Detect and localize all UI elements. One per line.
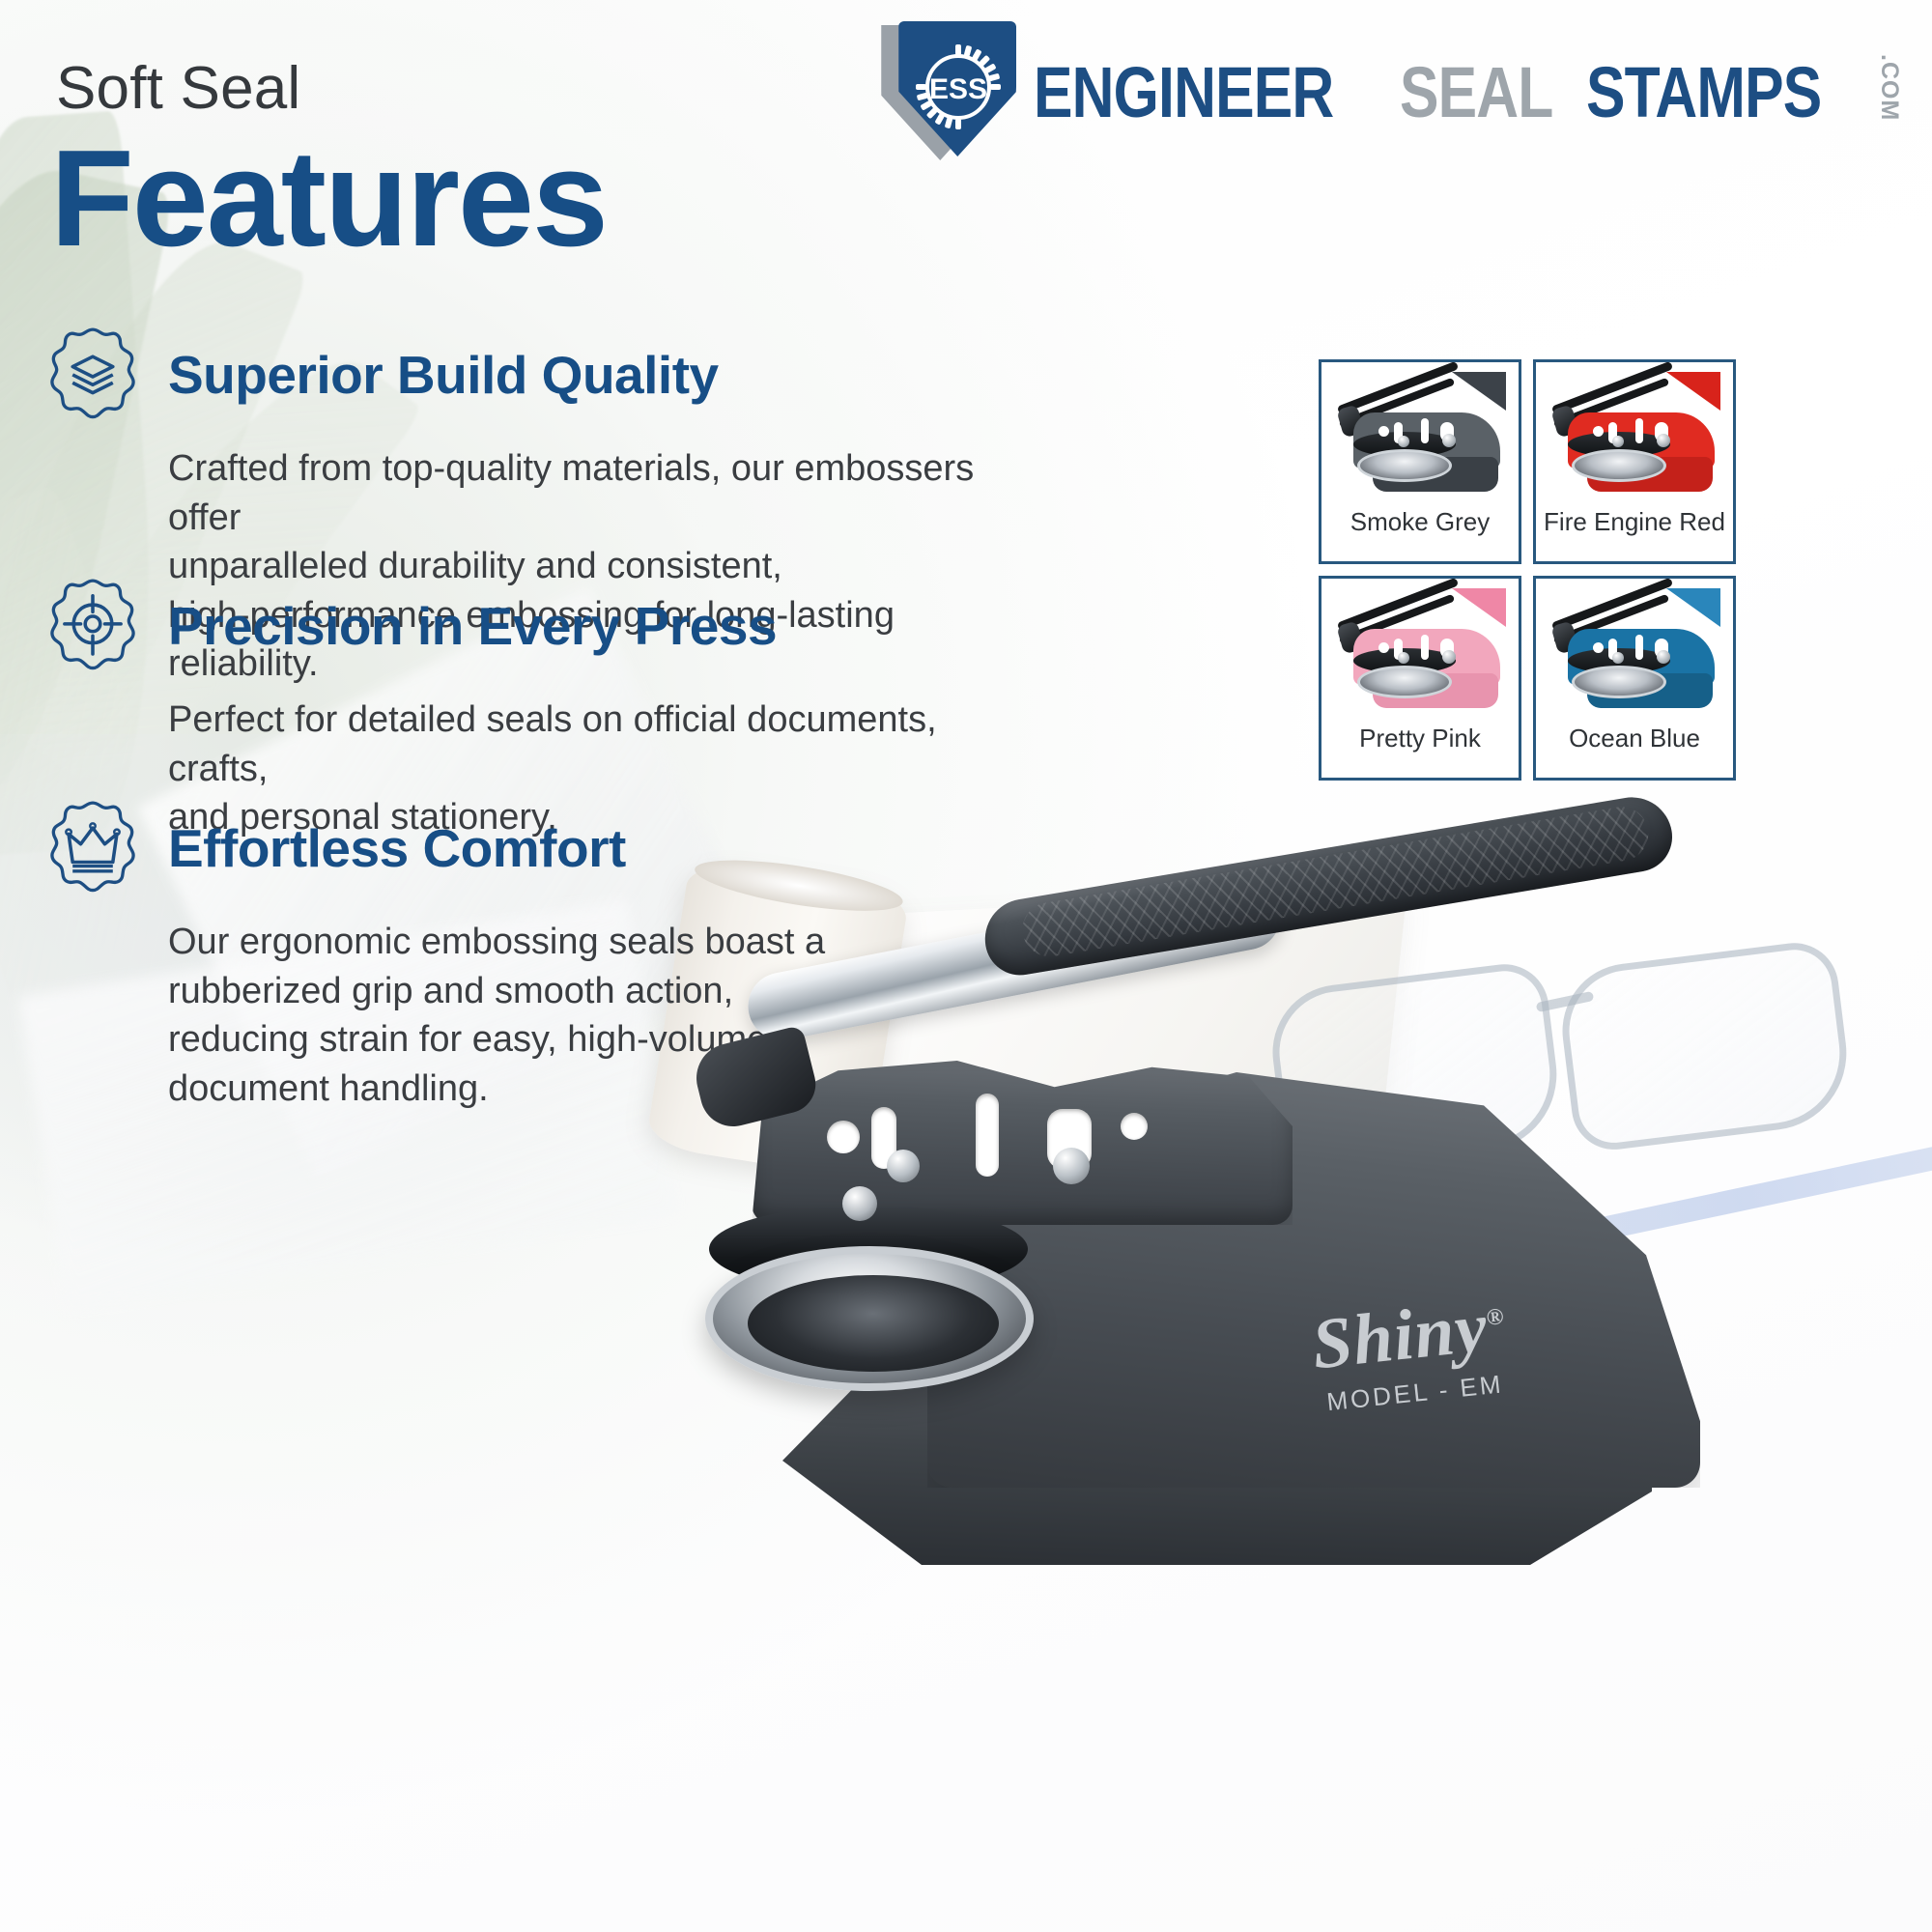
embosser-slot (976, 1094, 999, 1177)
embosser-flag (1452, 372, 1506, 411)
color-option-label: Ocean Blue (1569, 724, 1700, 753)
brand-name: Shiny (1308, 1288, 1491, 1385)
gear-icon: ESS (910, 39, 1007, 135)
logo-wordmark: ENGINEER SEAL STAMPS .COM (1034, 54, 1903, 125)
embosser-dial (1572, 666, 1666, 698)
product-brand-embossing: Shiny® MODEL - EM (1308, 1285, 1513, 1418)
feature-title: Effortless Comfort (168, 813, 626, 877)
page-kicker: Soft Seal (56, 54, 300, 123)
color-option-pretty-pink[interactable]: Pretty Pink (1319, 576, 1521, 781)
logo-word-stamps: STAMPS (1586, 60, 1821, 126)
logo-word-seal: SEAL (1400, 60, 1553, 126)
target-crosshair-seal-icon (43, 578, 143, 678)
embosser-rivet (1053, 1148, 1090, 1184)
feature-title: Precision in Every Press (168, 591, 777, 655)
ess-shield-icon: ESS (879, 17, 1024, 162)
logo-word-engineer: ENGINEER (1034, 60, 1333, 126)
embosser-hole (1121, 1113, 1148, 1140)
logo-monogram: ESS (929, 73, 987, 105)
color-option-fire-engine-red[interactable]: Fire Engine Red (1533, 359, 1736, 564)
color-option-label: Fire Engine Red (1544, 507, 1725, 537)
registered-mark: ® (1485, 1304, 1506, 1331)
embosser-thumbnail (1543, 368, 1726, 496)
embosser-thumbnail (1328, 368, 1512, 496)
embosser-thumbnail (1328, 584, 1512, 712)
embosser-dial (1357, 449, 1452, 482)
color-option-smoke-grey[interactable]: Smoke Grey (1319, 359, 1521, 564)
color-option-ocean-blue[interactable]: Ocean Blue (1533, 576, 1736, 781)
feature-block-precision-in-every-press: Precision in Every Press Perfect for det… (43, 591, 1018, 842)
embosser-dial (1572, 449, 1666, 482)
logo-tld: .COM (1875, 54, 1903, 121)
embosser-center-screw (842, 1186, 877, 1221)
crown-seal-icon (43, 800, 143, 900)
color-option-label: Pretty Pink (1359, 724, 1481, 753)
page-title: Features (50, 130, 607, 268)
brand-logo[interactable]: ESS ENGINEER SEAL STAMPS .COM (879, 17, 1903, 162)
embosser-dial-inner (748, 1275, 999, 1372)
embosser-dial (705, 1246, 1034, 1391)
embosser-dial (1357, 666, 1452, 698)
hero-product-image: Shiny® MODEL - EM (638, 831, 1932, 1932)
embosser-thumbnail (1543, 584, 1726, 712)
color-option-grid: Smoke Grey Fire Engine Red (1319, 359, 1736, 781)
feature-title: Superior Build Quality (168, 340, 719, 404)
embosser-flag (1666, 588, 1720, 627)
embosser-rivet (887, 1150, 920, 1182)
layers-stack-seal-icon (43, 327, 143, 427)
embosser-hole (827, 1121, 860, 1153)
embosser-flag (1452, 588, 1506, 627)
embosser-flag (1666, 372, 1720, 411)
color-option-label: Smoke Grey (1350, 507, 1491, 537)
